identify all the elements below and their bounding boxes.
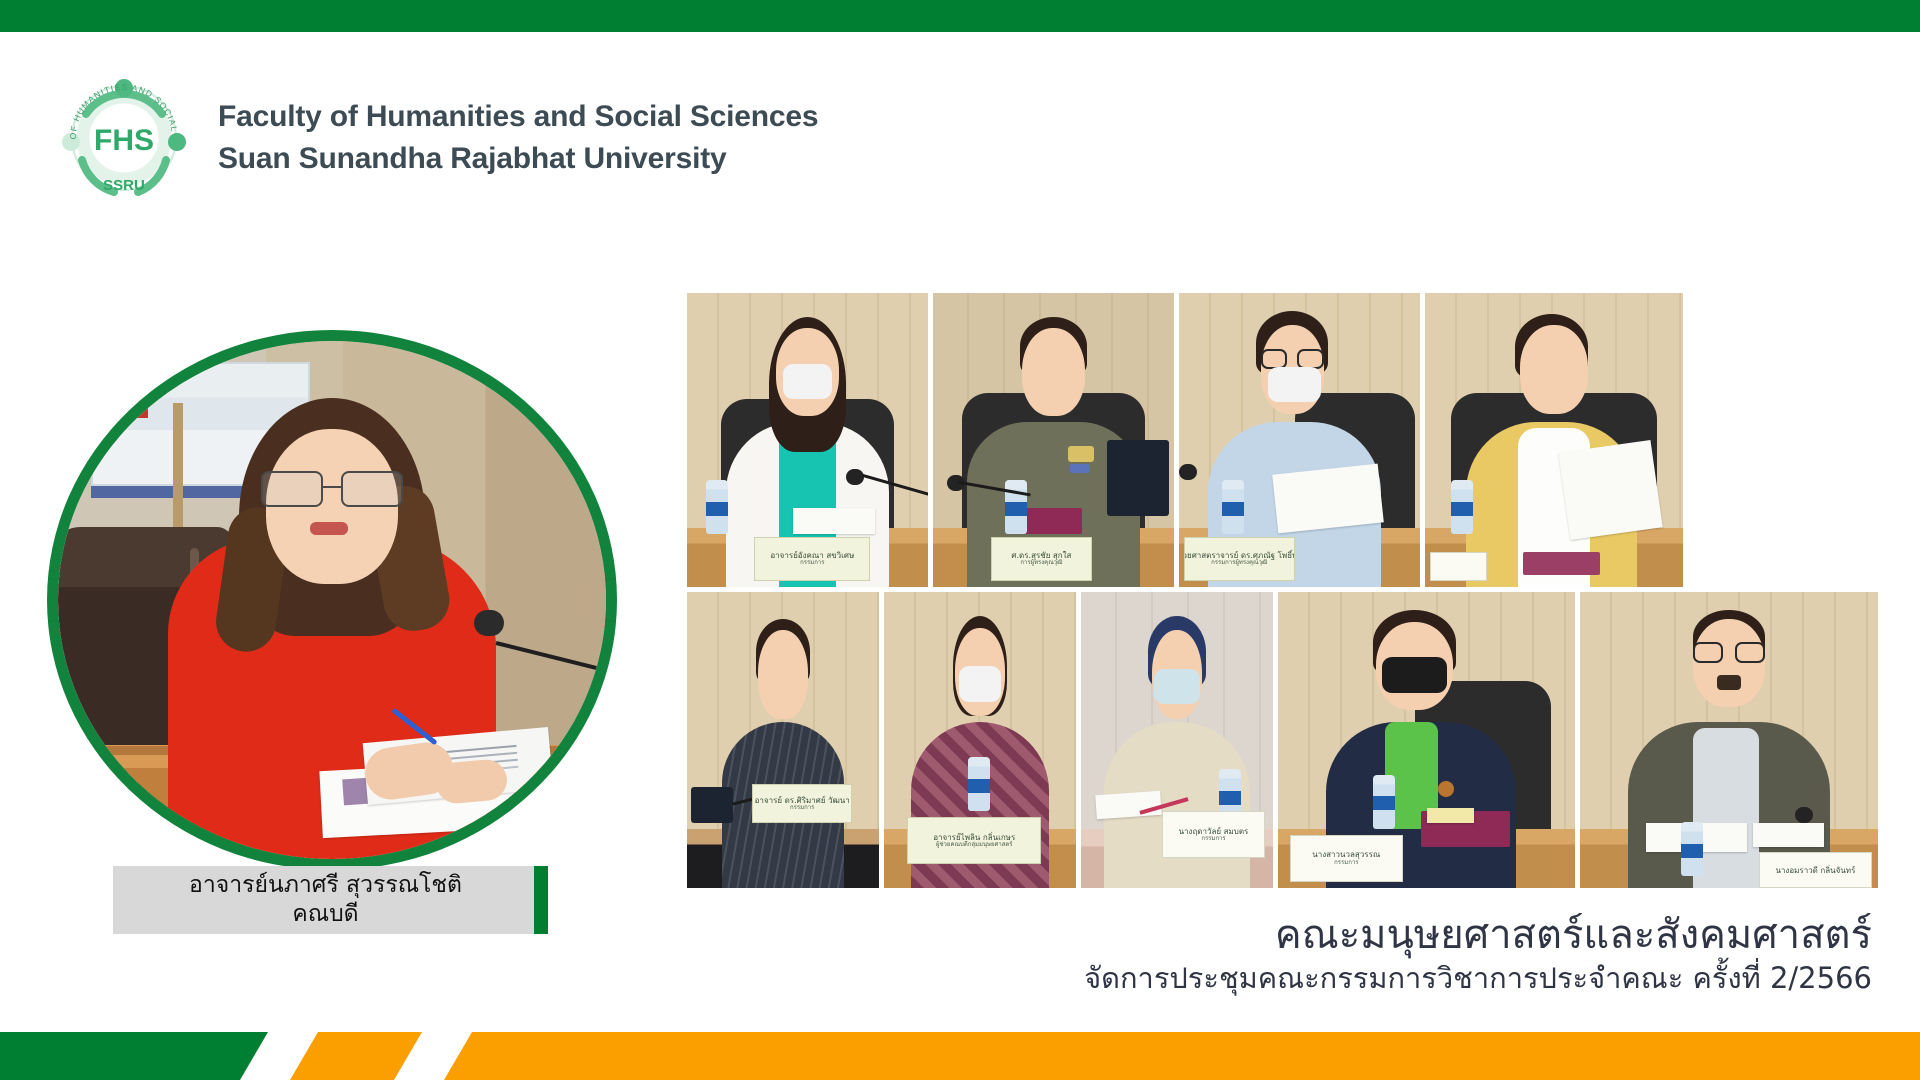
photo-cell: อาจารย์ ดร.ศิริมาศย์ วัฒนา กรรมการ [687,592,879,888]
photo-placard: นางฤดาวัลย์ สมบตร กรรมการ [1162,811,1266,858]
header-line-faculty: Faculty of Humanities and Social Science… [218,98,818,136]
bottom-bar-orange-large [444,1032,1920,1080]
top-green-band [0,0,1920,32]
photo-cell: อาจารย์อังคณา สขวิเศษ กรรมการ [687,293,928,587]
photo-placard: นางสาวนวลสุวรรณ กรรมการ [1290,835,1403,882]
photo-placard: ศ.ดร.สุรชัย สุกใส การผู้ทรงคุณวุฒิ [991,537,1092,581]
photo-grid-row-2: อาจารย์ ดร.ศิริมาศย์ วัฒนา กรรมการ อาจาร… [687,592,1878,888]
placard-role: กรรมการ [800,560,824,567]
svg-text:FHS: FHS [94,124,154,157]
photo-cell: ศ.ดร.สุรชัย สุกใส การผู้ทรงคุณวุฒิ [933,293,1174,587]
footer-title-block: คณะมนุษยศาสตร์และสังคมศาสตร์ จัดการประชุ… [1084,912,1872,996]
photo-placard: นางอมราวดี กลิ่นจันทร์ [1759,852,1872,888]
photo-cell: นางอมราวดี กลิ่นจันทร์ [1580,592,1878,888]
bottom-decorative-bars [0,1032,1920,1080]
photo-placard: ผู้ช่วยศาสตราจารย์ ดร.ศุภณัฐ โพธิ์ทอง กร… [1184,537,1295,581]
meeting-photo-grid: อาจารย์อังคณา สขวิเศษ กรรมการ [687,293,1878,888]
photo-placard: อาจารย์อังคณา สขวิเศษ กรรมการ [754,537,870,581]
svg-text:SSRU: SSRU [103,177,145,194]
header-line-university: Suan Sunandha Rajabhat University [218,140,818,178]
page-header: FACULTY OF HUMANITIES AND SOCIAL SCIENCE… [56,68,818,208]
placard-role: ผู้ช่วยคณบดีกลุ่มมนุษยศาสตร์ [936,842,1013,849]
placard-role: กรรมการ [790,805,814,812]
dean-portrait [47,330,617,870]
photo-placard: อาจารย์ไพลิน กลิ่นเกษร ผู้ช่วยคณบดีกลุ่ม… [907,817,1041,864]
dean-nameplate: อาจารย์นภาศรี สุวรรณโชติ คณบดี [113,866,538,934]
photo-placard: อาจารย์ ดร.ศิริมาศย์ วัฒนา กรรมการ [752,784,852,822]
portrait-photo [58,341,606,859]
placard-name: นางอมราวดี กลิ่นจันทร์ [1775,866,1855,875]
header-text-block: Faculty of Humanities and Social Science… [218,98,818,179]
bottom-bar-orange-small [290,1032,422,1080]
photo-cell: นางสาวนวลสุวรรณ กรรมการ [1278,592,1575,888]
footer-faculty-title: คณะมนุษยศาสตร์และสังคมศาสตร์ [1084,912,1872,958]
photo-cell [1425,293,1683,587]
photo-grid-row-1: อาจารย์อังคณา สขวิเศษ กรรมการ [687,293,1878,587]
photo-cell: นางฤดาวัลย์ สมบตร กรรมการ [1081,592,1273,888]
footer-event-subtitle: จัดการประชุมคณะกรรมการวิชาการประจำคณะ คร… [1084,960,1872,996]
dean-name: อาจารย์นภาศรี สุวรรณโชติ [189,871,462,900]
bottom-bar-green [0,1032,268,1080]
photo-cell: อาจารย์ไพลิน กลิ่นเกษร ผู้ช่วยคณบดีกลุ่ม… [884,592,1076,888]
photo-placard [1430,552,1487,581]
placard-role: กรรมการ [1334,860,1358,867]
fhs-logo: FACULTY OF HUMANITIES AND SOCIAL SCIENCE… [56,68,192,208]
nameplate-green-accent [534,866,548,934]
dean-role: คณบดี [292,900,358,929]
placard-role: กรรมการ [1201,836,1225,843]
placard-role: กรรมการผู้ทรงคุณวุฒิ [1211,560,1267,567]
portrait-green-ring [47,330,617,870]
placard-role: การผู้ทรงคุณวุฒิ [1020,560,1062,567]
photo-cell: ผู้ช่วยศาสตราจารย์ ดร.ศุภณัฐ โพธิ์ทอง กร… [1179,293,1420,587]
